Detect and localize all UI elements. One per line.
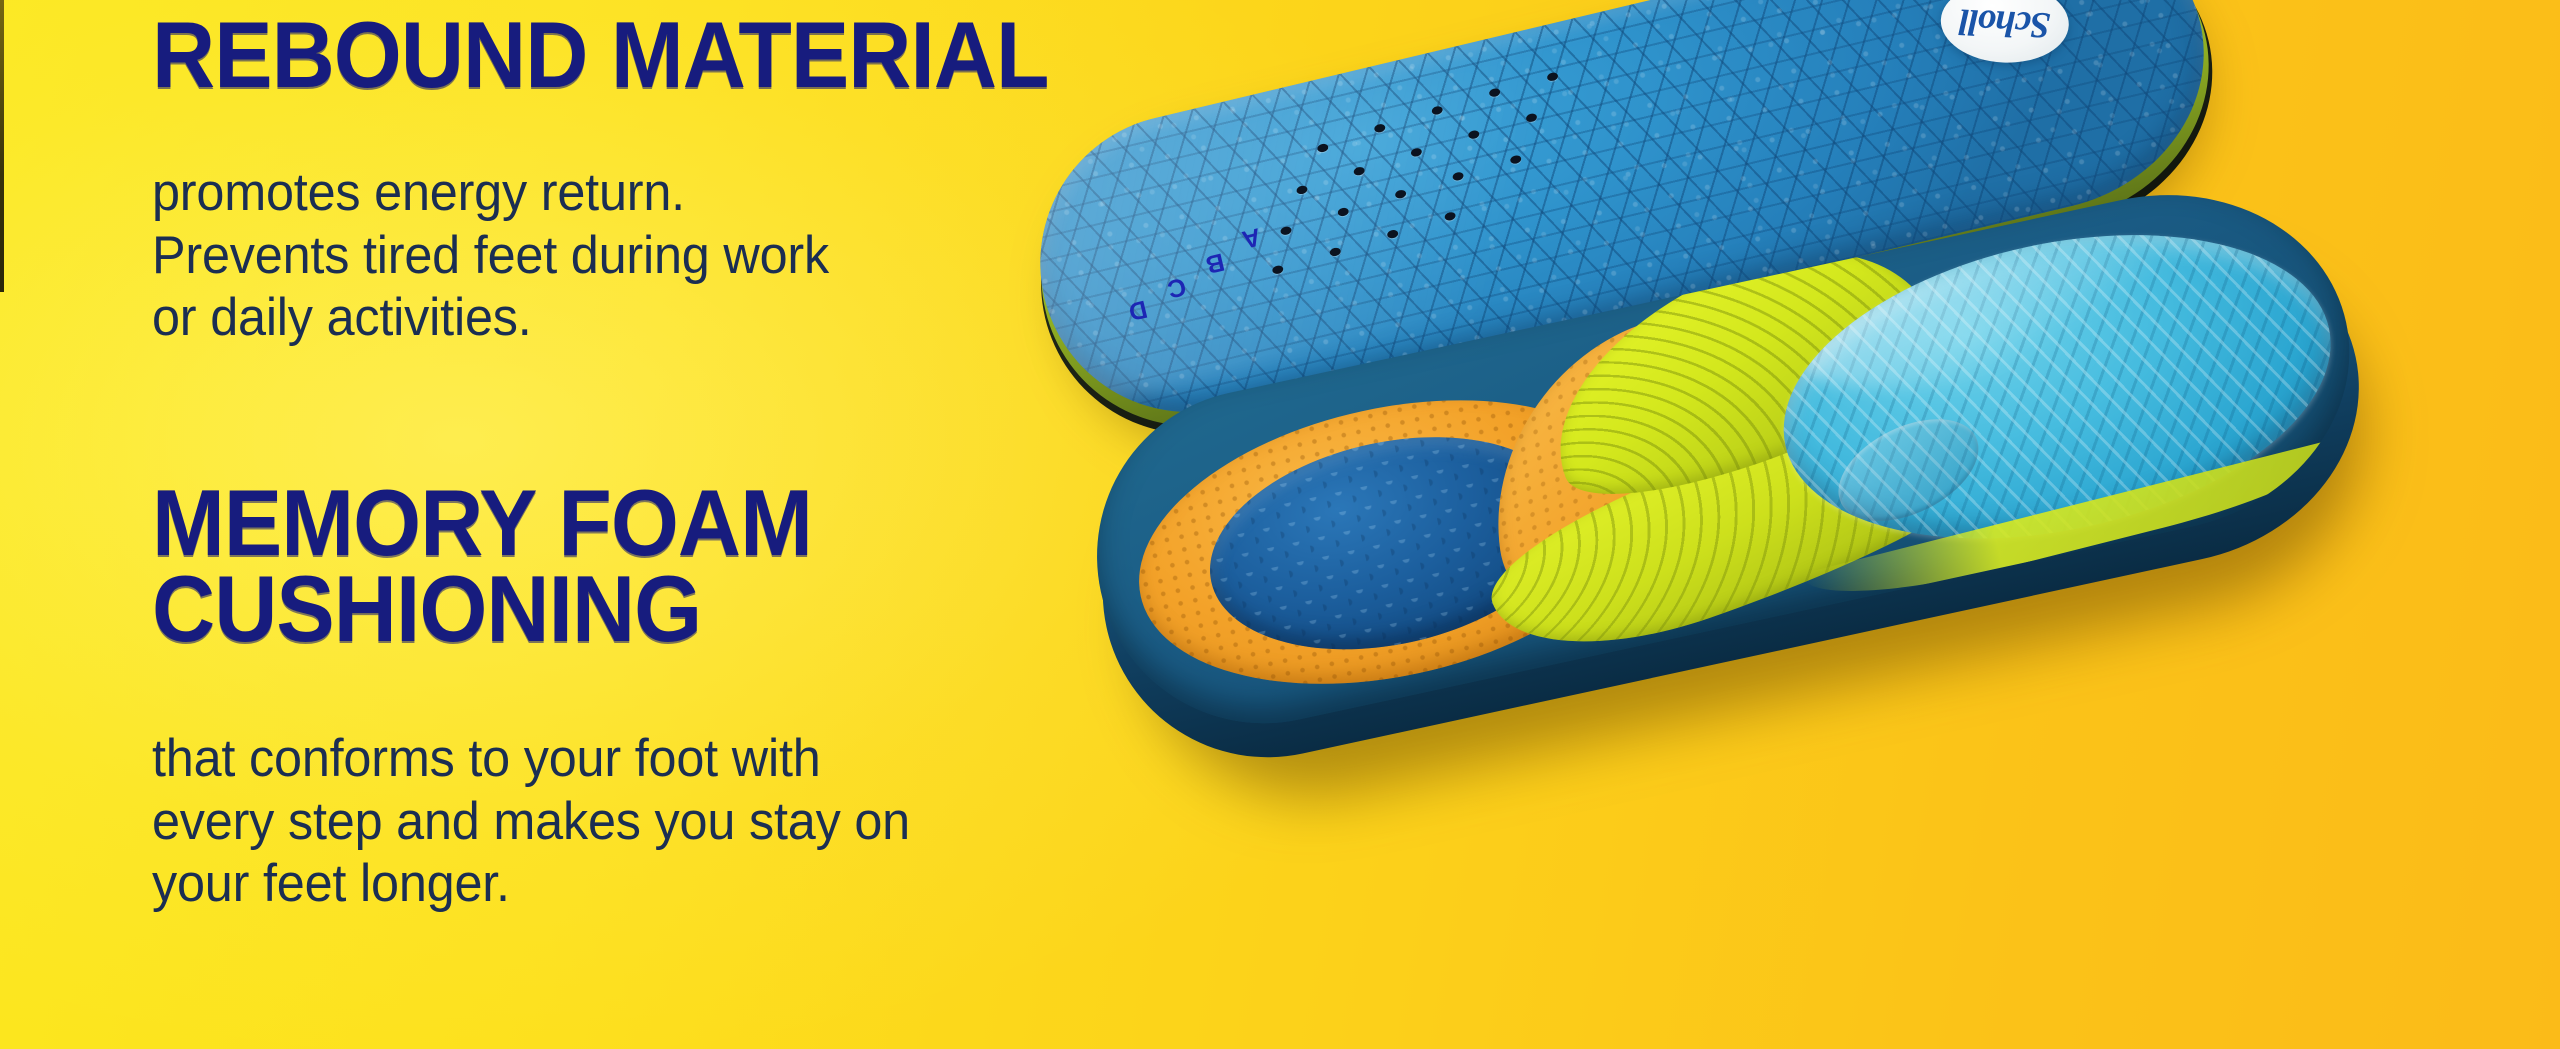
ad-banner: REBOUND MATERIAL promotes energy return.…	[0, 0, 2560, 1049]
feature-headline-memory-foam-cushioning: MEMORY FOAM CUSHIONING	[152, 480, 812, 653]
scholl-logo-text: Scholl	[1959, 0, 2051, 46]
feature-body-rebound-material: promotes energy return. Prevents tired f…	[152, 162, 829, 350]
product-imagery: A B C D	[1000, 0, 2560, 1049]
feature-headline-rebound-material: REBOUND MATERIAL	[152, 12, 1049, 98]
feature-body-memory-foam-cushioning: that conforms to your foot with every st…	[152, 728, 910, 916]
